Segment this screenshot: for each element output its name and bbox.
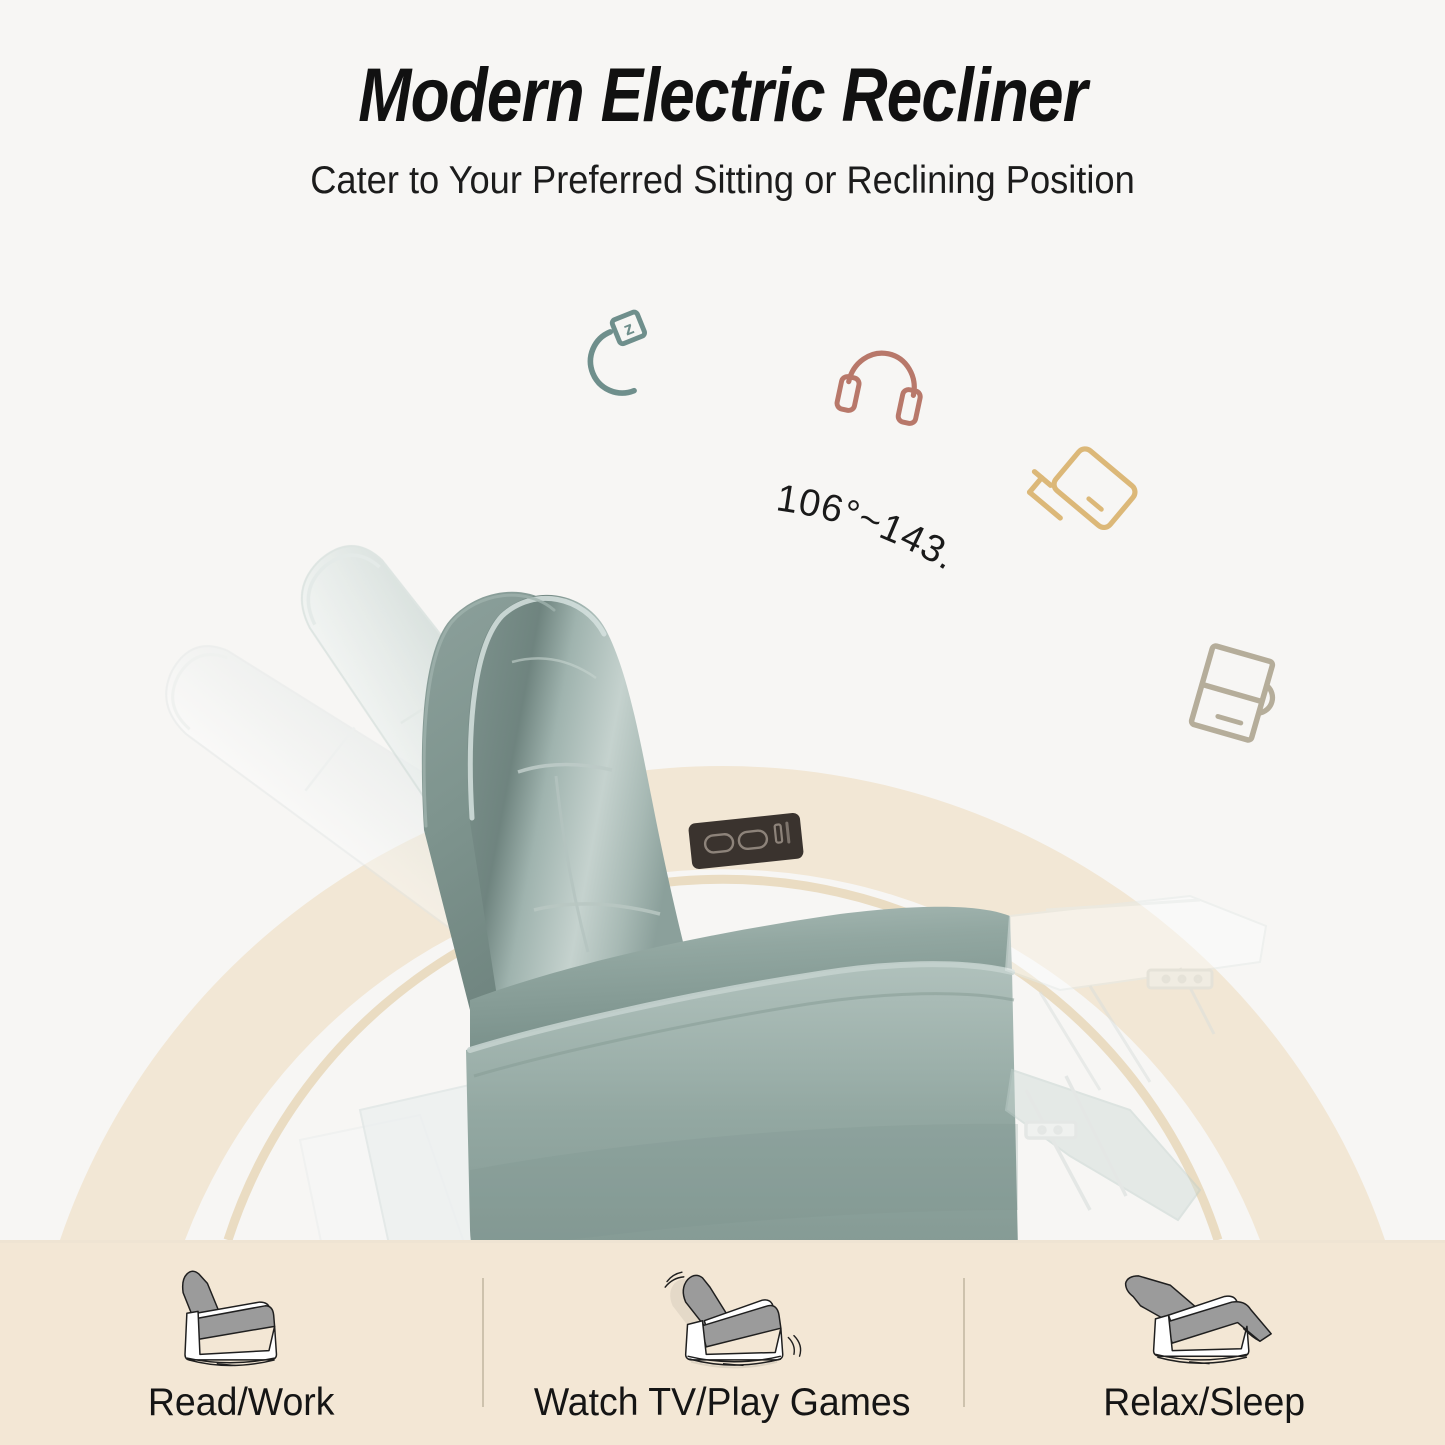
feature-label: Watch TV/Play Games	[534, 1381, 911, 1425]
product-poster: Modern Electric Recliner Cater to Your P…	[0, 0, 1445, 1445]
feature-bar: Read/Work	[0, 1240, 1445, 1445]
chair-reclined-icon	[1109, 1261, 1299, 1373]
feature-label: Read/Work	[148, 1381, 335, 1425]
page-subtitle: Cater to Your Preferred Sitting or Recli…	[51, 160, 1395, 203]
svg-text:106°~143.8°: 106°~143.8°	[0, 210, 964, 579]
feature-label: Relax/Sleep	[1103, 1381, 1305, 1425]
feature-watch-tv[interactable]: Watch TV/Play Games	[482, 1240, 964, 1445]
page-title: Modern Electric Recliner	[116, 56, 1330, 136]
chair-rocking-icon	[628, 1261, 818, 1373]
chair-upright-icon	[146, 1261, 336, 1373]
feature-read-work[interactable]: Read/Work	[0, 1240, 482, 1445]
recline-angle-text: 106°~143.8°	[0, 210, 964, 579]
hero-stage: z	[0, 210, 1445, 1240]
feature-relax-sleep[interactable]: Relax/Sleep	[963, 1240, 1445, 1445]
poster-header: Modern Electric Recliner Cater to Your P…	[0, 0, 1445, 203]
recline-angle-annotation: 106°~143.8°	[0, 210, 1445, 1240]
